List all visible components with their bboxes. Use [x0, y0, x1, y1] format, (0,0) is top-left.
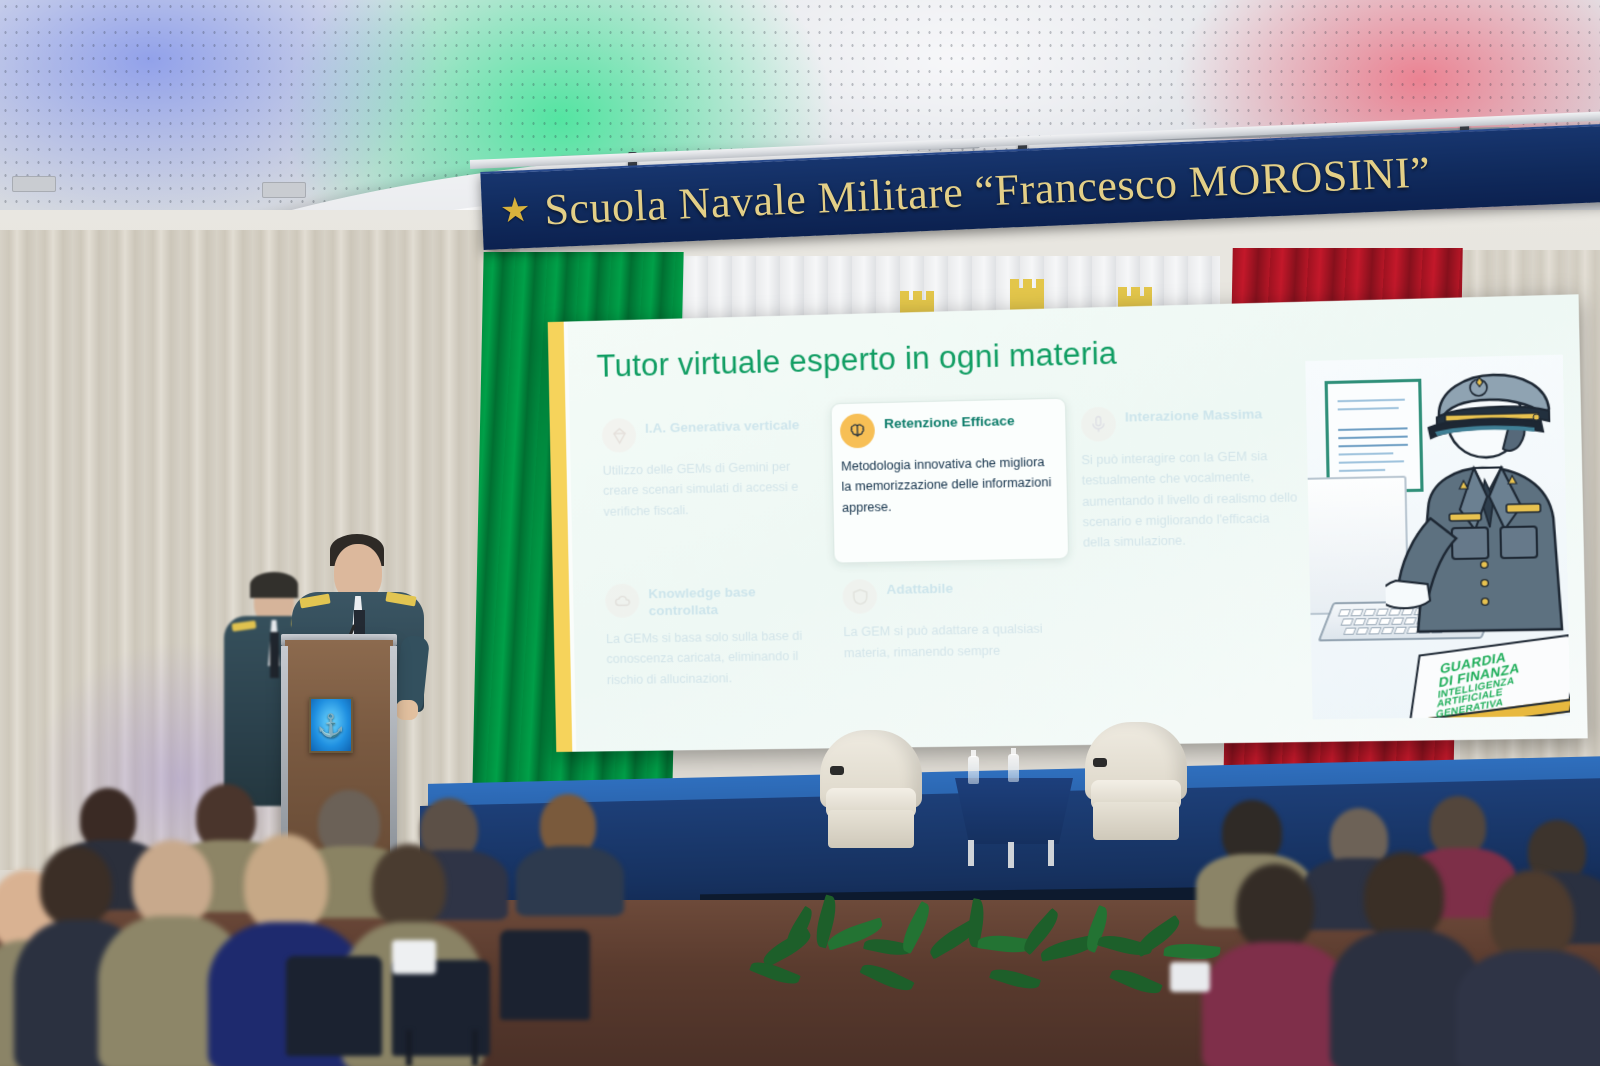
- star-icon: ★: [499, 193, 531, 228]
- audience-head: [1364, 852, 1444, 940]
- feature-card-knowledge-base-controllata: Knowledge base controllata La GEMs si ba…: [597, 570, 831, 729]
- officer-tie: [270, 632, 279, 678]
- audience-head: [40, 846, 112, 926]
- grid-empty-cell: [1075, 561, 1317, 723]
- slide-title: Tutor virtuale esperto in ogni materia: [596, 335, 1117, 385]
- card-body: Si può interagire con la GEM sia testual…: [1081, 445, 1301, 553]
- naval-school-crest: ⚓: [309, 697, 353, 753]
- microphone-icon: [1080, 407, 1116, 442]
- audience-chair: [286, 956, 382, 1056]
- card-header: I.A. Generativa verticale: [602, 414, 814, 453]
- audience-chair: [500, 930, 590, 1020]
- diamond-icon: [602, 418, 637, 453]
- shield-icon: [842, 579, 877, 614]
- brain-icon: [840, 413, 875, 448]
- ceiling-vent-2: [262, 182, 306, 198]
- feature-card-ia-generativa-verticale: I.A. Generativa verticale Utilizzo delle…: [593, 403, 827, 568]
- card-header: Knowledge base controllata: [605, 580, 817, 621]
- speaker-hand: [396, 700, 418, 720]
- card-body: La GEM si può adattare a qualsiasi mater…: [843, 619, 1058, 664]
- projection-screen: Tutor virtuale esperto in ogni materia I…: [548, 294, 1588, 752]
- card-body: La GEMs si basa solo sulla base di conos…: [606, 625, 818, 689]
- card-title: Interazione Massima: [1125, 403, 1263, 427]
- feature-card-adattabile: Adattabile La GEM si può adattare a qual…: [834, 565, 1072, 726]
- officer-hair: [250, 572, 298, 598]
- chair-leg: [472, 1030, 478, 1066]
- paper-handout: [1170, 962, 1210, 992]
- feature-card-retenzione-efficace: Retenzione Efficace Metodologia innovati…: [831, 398, 1069, 564]
- paper-handout: [392, 940, 436, 974]
- card-title: Retenzione Efficace: [884, 410, 1015, 433]
- card-header: Adattabile: [842, 576, 1057, 614]
- presentation-slide: Tutor virtuale esperto in ogni materia I…: [548, 294, 1588, 752]
- audience-shoulders: [1456, 950, 1600, 1066]
- book-on-desk: GUARDIA DI FINANZA INTELLIGENZA ARTIFICI…: [1408, 633, 1570, 720]
- audience-head: [1236, 864, 1314, 950]
- audience-shoulders: [1202, 942, 1350, 1066]
- feature-card-grid: I.A. Generativa verticale Utilizzo delle…: [593, 392, 1316, 730]
- card-body: Utilizzo delle GEMs di Gemini per creare…: [602, 456, 814, 522]
- audience-front-row: [0, 830, 1600, 1066]
- audience-head-blonde: [244, 834, 328, 932]
- audience-head: [132, 840, 212, 926]
- feature-card-interazione-massima: Interazione Massima Si può interagire co…: [1072, 392, 1314, 560]
- card-body: Metodologia innovativa che migliora la m…: [841, 452, 1054, 518]
- conference-hall-photo: ★ Scuola Navale Militare “Francesco MORO…: [0, 0, 1600, 1066]
- ceiling-vent-1: [12, 176, 56, 192]
- officer-illustration: GUARDIA DI FINANZA INTELLIGENZA ARTIFICI…: [1305, 355, 1570, 720]
- card-title: Knowledge base controllata: [648, 580, 817, 620]
- anchor-icon: ⚓: [317, 715, 344, 737]
- cloud-lock-icon: [605, 584, 640, 619]
- chair-leg: [406, 1030, 412, 1066]
- audience-head: [1490, 870, 1574, 962]
- card-title: I.A. Generativa verticale: [645, 414, 800, 438]
- card-header: Retenzione Efficace: [840, 409, 1053, 448]
- officer-figure: [1381, 371, 1570, 642]
- card-header: Interazione Massima: [1080, 402, 1298, 442]
- audience-head: [372, 844, 446, 928]
- card-title: Adattabile: [886, 578, 953, 599]
